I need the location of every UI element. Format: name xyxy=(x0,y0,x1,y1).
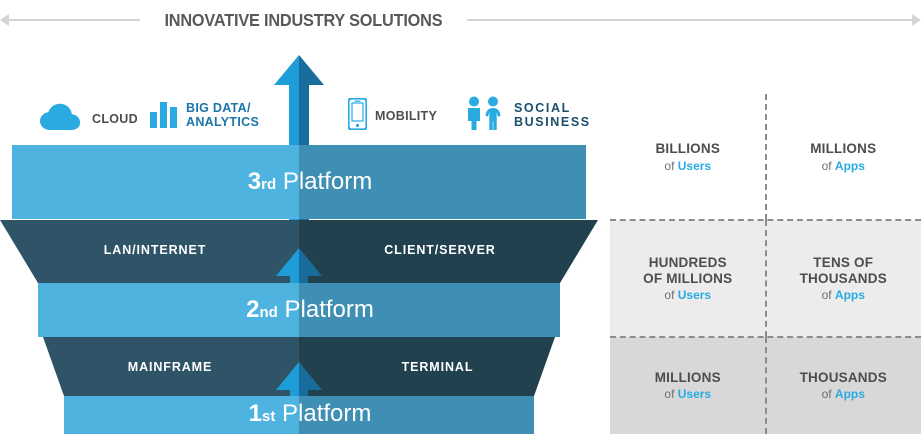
metric-cell-users-3rd: BILLIONS of Users xyxy=(610,94,766,220)
platform1-bar-right xyxy=(299,396,534,434)
band-label-terminal: TERMINAL xyxy=(330,360,545,374)
platform3-bar-left xyxy=(12,145,299,219)
metric-amount-users-3rd: BILLIONS xyxy=(655,141,720,157)
band-label-mainframe: MAINFRAME xyxy=(60,360,280,374)
metric-of-users-1st: of xyxy=(664,387,677,401)
metric-amount-apps-3rd: MILLIONS xyxy=(810,141,876,157)
band-label-lan-internet: LAN/INTERNET xyxy=(40,243,270,257)
band-label-client-server: CLIENT/SERVER xyxy=(325,243,555,257)
metric-noun-apps-2nd: Apps xyxy=(835,288,865,302)
platform1-bar-left xyxy=(64,396,299,434)
metric-sub-users-2nd: of Users xyxy=(664,288,711,302)
metrics-divider-vertical-1 xyxy=(765,94,767,220)
metric-of-apps-1st: of xyxy=(822,387,835,401)
metric-cell-apps-2nd: TENS OF THOUSANDS of Apps xyxy=(766,220,921,337)
metric-noun-users-3rd: Users xyxy=(678,159,711,173)
platform2-bar-left xyxy=(38,283,299,337)
metric-of-apps-2nd: of xyxy=(822,288,835,302)
metric-amount-users-1st: MILLIONS xyxy=(655,370,721,386)
metrics-panel: BILLIONS of Users MILLIONS of Apps HUNDR… xyxy=(610,0,921,434)
metric-amount-users-2nd: HUNDREDS OF MILLIONS xyxy=(643,255,732,287)
metrics-divider-vertical-3 xyxy=(765,337,767,434)
metric-cell-apps-1st: THOUSANDS of Apps xyxy=(766,337,921,434)
platform2-bar-right xyxy=(299,283,560,337)
platform-pyramid: 3rd Platform 2nd Platform 1st Platform L… xyxy=(0,0,620,434)
metric-amount-apps-2nd: TENS OF THOUSANDS xyxy=(800,255,887,287)
metric-amount-apps-1st: THOUSANDS xyxy=(800,370,887,386)
platform3-bar-right xyxy=(299,145,586,219)
metric-of-users-2nd: of xyxy=(664,288,677,302)
metric-noun-users-1st: Users xyxy=(678,387,711,401)
metric-noun-apps-3rd: Apps xyxy=(835,159,865,173)
metric-sub-users-3rd: of Users xyxy=(664,159,711,173)
metric-sub-users-1st: of Users xyxy=(664,387,711,401)
metric-sub-apps-2nd: of Apps xyxy=(822,288,865,302)
metric-cell-users-2nd: HUNDREDS OF MILLIONS of Users xyxy=(610,220,766,337)
metric-sub-apps-3rd: of Apps xyxy=(822,159,865,173)
metrics-divider-horizontal-2 xyxy=(610,336,921,338)
metric-cell-users-1st: MILLIONS of Users xyxy=(610,337,766,434)
metrics-divider-horizontal-1 xyxy=(610,219,921,221)
metric-noun-users-2nd: Users xyxy=(678,288,711,302)
infographic-root: INNOVATIVE INDUSTRY SOLUTIONS CLOUD xyxy=(0,0,921,434)
metric-cell-apps-3rd: MILLIONS of Apps xyxy=(766,94,921,220)
metric-of-apps-3rd: of xyxy=(822,159,835,173)
metrics-divider-vertical-2 xyxy=(765,220,767,337)
metric-of-users-3rd: of xyxy=(664,159,677,173)
metric-noun-apps-1st: Apps xyxy=(835,387,865,401)
metric-sub-apps-1st: of Apps xyxy=(822,387,865,401)
